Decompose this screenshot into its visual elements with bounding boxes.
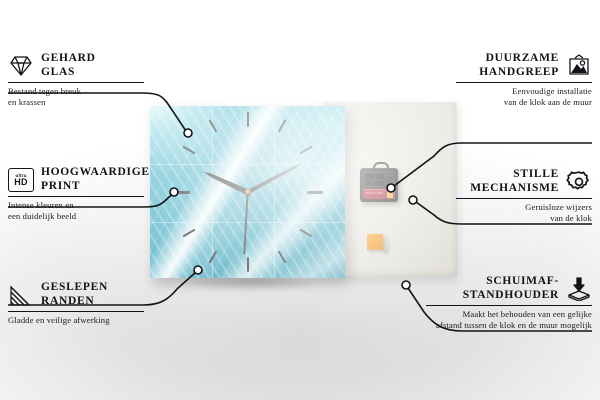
clock-center-pin (245, 189, 251, 195)
feature-desc-line1: Maakt het behouden van een gelijke (426, 309, 592, 320)
feature-title-line1: GEHARD (41, 52, 96, 66)
feature-gehard-glas: GEHARD GLAS Bestand tegen breuk en krass… (8, 52, 144, 108)
feature-title-line2: GLAS (41, 66, 96, 80)
ultra-hd-icon: ultra HD (8, 168, 34, 192)
clock-dial (150, 106, 345, 278)
battery: ALKALINE (363, 189, 395, 199)
feature-title-line2: MECHANISME (470, 182, 559, 196)
feature-desc-line1: Intense kleuren en (8, 200, 144, 211)
feature-title-line1: SCHUIMAF- (463, 275, 559, 289)
feature-desc-line1: Bestand tegen breuk (8, 86, 144, 97)
feature-title-line1: STILLE (470, 168, 559, 182)
feature-title-line1: HOOGWAARDIGE (41, 166, 150, 180)
feature-rule (8, 196, 144, 197)
feature-rule (456, 82, 592, 83)
feature-desc-line2: een duidelijk beeld (8, 211, 144, 222)
feature-title-line1: DUURZAME (479, 52, 559, 66)
infographic-stage: ALKALINE (0, 0, 600, 400)
feature-rule (426, 305, 592, 306)
glass-wall-clock (150, 106, 345, 278)
feature-desc-line2: en krassen (8, 97, 144, 108)
clock-minute-hand (243, 160, 303, 197)
feature-desc-line1: Geruisloze wijzers (456, 202, 592, 213)
clock-second-hand (243, 192, 248, 254)
beveled-edge-icon (8, 283, 34, 307)
ultra-hd-icon-main-text: HD (14, 178, 27, 187)
feature-title-line2: STANDHOUDER (463, 289, 559, 303)
feature-title-line1: GESLEPEN (41, 281, 108, 295)
feature-duurzame-handgreep: DUURZAME HANDGREEP Eenvoudige installati… (456, 52, 592, 108)
feature-rule (8, 311, 144, 312)
feature-desc-line2: afstand tussen de klok en de muur mogeli… (426, 320, 592, 331)
foam-spacer-side (383, 237, 388, 253)
feature-rule (456, 198, 592, 199)
feature-desc-line1: Gladde en veilige afwerking (8, 315, 144, 326)
feature-stille-mechanisme: STILLE MECHANISME Geruisloze wijzers van… (456, 168, 592, 224)
feature-title-line2: PRINT (41, 180, 150, 194)
gear-icon (566, 170, 592, 194)
hanging-picture-icon (566, 54, 592, 78)
clock-movement-mechanism: ALKALINE (360, 168, 398, 202)
foam-spacer-icon (566, 277, 592, 301)
feature-rule (8, 82, 144, 83)
feature-hoogwaardige-print: ultra HD HOOGWAARDIGE PRINT Intense kleu… (8, 166, 144, 222)
foam-spacer (367, 234, 383, 250)
feature-desc-line2: van de klok aan de muur (456, 97, 592, 108)
feature-title-line2: RANDEN (41, 295, 108, 309)
product-scene: ALKALINE (128, 96, 438, 296)
feature-geslepen-randen: GESLEPEN RANDEN Gladde en veilige afwerk… (8, 281, 144, 326)
feature-schuimafstandhouder: SCHUIMAF- STANDHOUDER Maakt het behouden… (426, 275, 592, 331)
feature-title-line2: HANDGREEP (479, 66, 559, 80)
feature-desc-line2: van de klok (456, 213, 592, 224)
feature-desc-line1: Eenvoudige installatie (456, 86, 592, 97)
diamond-icon (8, 54, 34, 78)
